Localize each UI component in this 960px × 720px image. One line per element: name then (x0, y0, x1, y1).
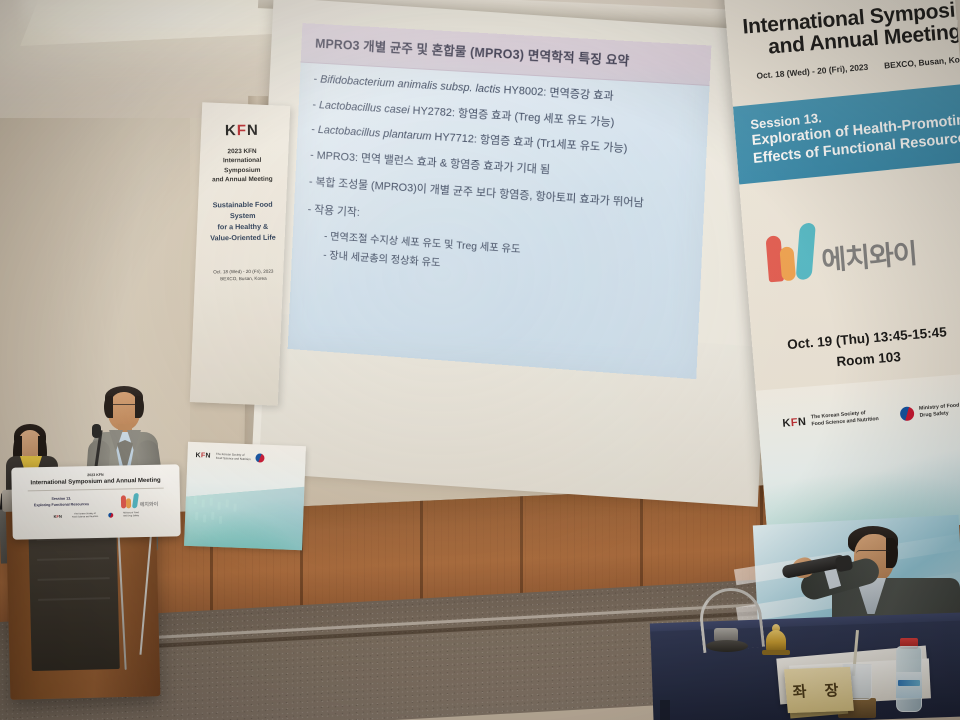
right-banner-session-band: Session 13. Exploration of Health-Promot… (733, 84, 960, 184)
podium-sign-line2: International Symposium and Annual Meeti… (18, 477, 174, 486)
gooseneck-microphone-base (706, 640, 748, 652)
podium-sign-ministry-name: Ministry of Food and Drug Safety (123, 512, 139, 518)
desk-bell-base (762, 650, 790, 655)
podium-sign-kfn-name: The Korean Society of Food Science and N… (72, 513, 99, 519)
right-banner-date: Oct. 18 (Wed) - 20 (Fri), 2023 (756, 61, 868, 80)
ministry-seal-icon (255, 453, 264, 462)
small-kfn-banner: KFN The Korean Society of Food Science a… (184, 442, 306, 550)
right-banner-footer: KFN The Korean Society of Food Science a… (756, 372, 960, 540)
kfn-org-logo-block: KFN The Korean Society of Food Science a… (782, 409, 879, 431)
left-banner-event-title: 2023 KFN International Symposium and Ann… (205, 147, 279, 185)
ministry-logo-block: Ministry of Food and Drug Safety (900, 402, 960, 422)
podium-sign-ministry-seal-icon (108, 513, 113, 518)
left-standing-banner: KFN 2023 KFN International Symposium and… (190, 102, 290, 405)
podium-sign-kfn-mark: KFN (54, 514, 62, 519)
handheld-microphone-grille (835, 555, 854, 573)
left-banner-date-venue: Oct. 18 (Wed) - 20 (Fri), 2023 BEXCO, Bu… (206, 269, 280, 284)
podium-sign-footer-logos: KFN The Korean Society of Food Science a… (18, 511, 174, 520)
podium-sign-hy-logo: 에치와이 (121, 493, 159, 509)
conference-photo: MPRO3 개별 균주 및 혼합물 (MPRO3) 면역학적 특징 요약 - B… (0, 0, 960, 720)
podium-signboard: 2023 KFN International Symposium and Ann… (11, 464, 180, 540)
hy-wordmark-icon (765, 222, 816, 282)
small-banner-wave-graphic (184, 486, 306, 550)
right-banner-venue: BEXCO, Busan, Korea (884, 53, 960, 70)
podium-microphone-head (92, 424, 101, 438)
head-table-leg (660, 700, 670, 720)
podium-sign-divider (28, 488, 164, 492)
taegeuk-seal-icon (900, 406, 915, 421)
podium-sign-session: Session 13. Exploring Functional Resourc… (34, 496, 89, 508)
speaker-glasses (110, 404, 138, 411)
kfn-logo-right-banner: KFN (782, 416, 807, 430)
slide-body: - Bifidobacterium animalis subsp. lactis… (305, 73, 701, 288)
nameplate-text: 좌 장 (792, 679, 847, 702)
presentation-slide: MPRO3 개별 균주 및 혼합물 (MPRO3) 면역학적 특징 요약 - B… (288, 23, 712, 379)
kfn-logo-left-banner: KFN (205, 122, 279, 140)
hy-sponsor-logo: 에치와이 (765, 209, 960, 282)
small-banner-org-name: The Korean Society of Food Science and N… (216, 452, 251, 461)
right-banner-header: International Symposium and Annual Meeti… (723, 0, 960, 82)
session-schedule: Oct. 19 (Thu) 13:45-15:45 Room 103 (752, 321, 960, 375)
left-banner-theme: Sustainable Food System for a Healthy & … (206, 200, 280, 244)
chairperson-nameplate: 좌 장 (784, 667, 854, 713)
chairperson-glasses (856, 550, 890, 559)
kfn-logo-small-banner: KFN (195, 452, 211, 460)
water-bottle-label (896, 672, 922, 698)
hy-korean-name: 에치와이 (820, 231, 918, 278)
desk-bell[interactable] (766, 630, 786, 652)
podium-front-panel (28, 519, 120, 671)
